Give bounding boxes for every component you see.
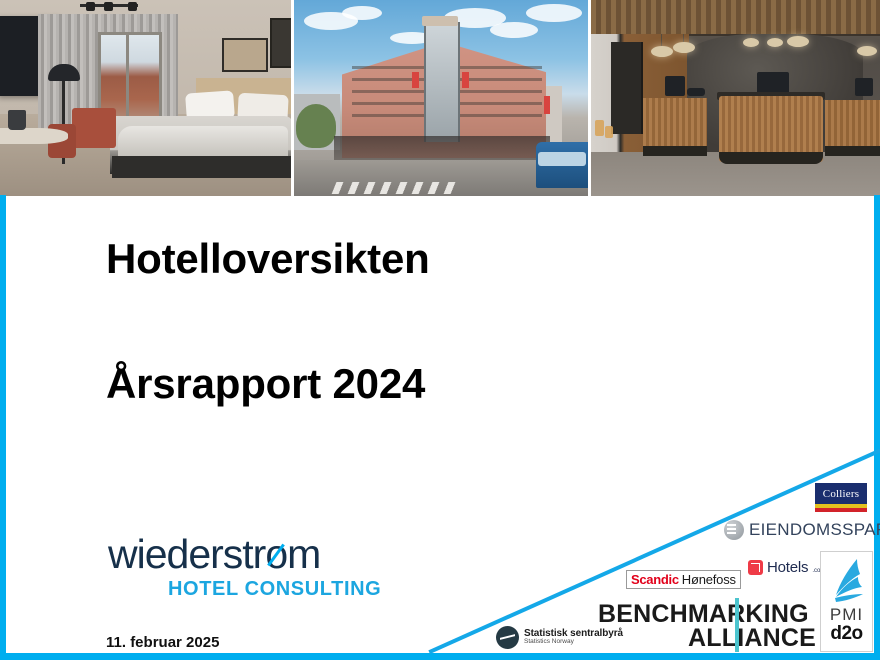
hotels-bed-icon <box>748 560 763 575</box>
colliers-label: Colliers <box>823 488 859 500</box>
photo-hotel-building-facade <box>294 0 588 196</box>
benchmarking-line2: ALLIANCE <box>598 624 816 653</box>
wiederstrom-wordmark: wiederstrom <box>108 534 370 575</box>
wiederstrom-logo: wiederstrom HOTEL CONSULTING <box>108 534 370 596</box>
pmi-label: PMI <box>830 606 863 623</box>
partner-logo-ssb: Statistisk sentralbyrå Statistics Norway <box>496 626 623 649</box>
ssb-line2: Statistics Norway <box>524 639 623 646</box>
partner-logo-scandic-honefoss: Scandic Hønefoss <box>626 570 741 589</box>
eiendomsspar-label: EIENDOMSSPAR <box>749 520 880 540</box>
partner-logo-benchmarking-alliance: BENCHMARKING ALLIANCE <box>598 600 816 652</box>
page-title: Hotelloversikten <box>106 238 430 280</box>
slide-border-bottom <box>0 653 880 660</box>
colliers-red-bar <box>815 508 867 512</box>
photo-hotel-guest-room <box>0 0 291 196</box>
ssb-labels: Statistisk sentralbyrå Statistics Norway <box>524 629 623 646</box>
slide-date: 11. februar 2025 <box>106 634 219 651</box>
photo-hotel-reception-lobby <box>591 0 880 196</box>
wiederstrom-tagline: HOTEL CONSULTING <box>168 578 381 601</box>
benchmarking-accent-bar <box>735 598 739 652</box>
page-subtitle: Årsrapport 2024 <box>106 363 425 405</box>
presentation-slide: Hotelloversikten Årsrapport 2024 11. feb… <box>0 0 880 660</box>
slide-border-right <box>874 195 880 660</box>
partner-logo-colliers: Colliers <box>815 483 867 513</box>
eiendomsspar-circle-icon <box>724 520 744 540</box>
ssb-chart-icon <box>496 626 519 649</box>
wiederstrom-word-after: m <box>287 531 320 577</box>
pmi-sail-icon <box>827 557 867 604</box>
partner-logo-eiendomsspar: EIENDOMSSPAR <box>724 520 880 540</box>
hotels-label: Hotels <box>767 559 808 576</box>
partner-logo-hotels-com: Hotels .com <box>748 559 825 576</box>
colliers-box: Colliers <box>815 483 867 504</box>
slide-border-left <box>0 195 6 660</box>
wiederstrom-word-before: wiederstr <box>108 531 265 577</box>
scandic-brand: Scandic <box>631 572 679 587</box>
wiederstrom-o-glyph: o <box>265 534 287 575</box>
photo-band <box>0 0 880 196</box>
partner-logo-pmi-d2o: PMI d2o <box>820 551 873 652</box>
pmi-d2o-label: d2o <box>830 624 862 643</box>
scandic-location: Hønefoss <box>682 572 736 587</box>
